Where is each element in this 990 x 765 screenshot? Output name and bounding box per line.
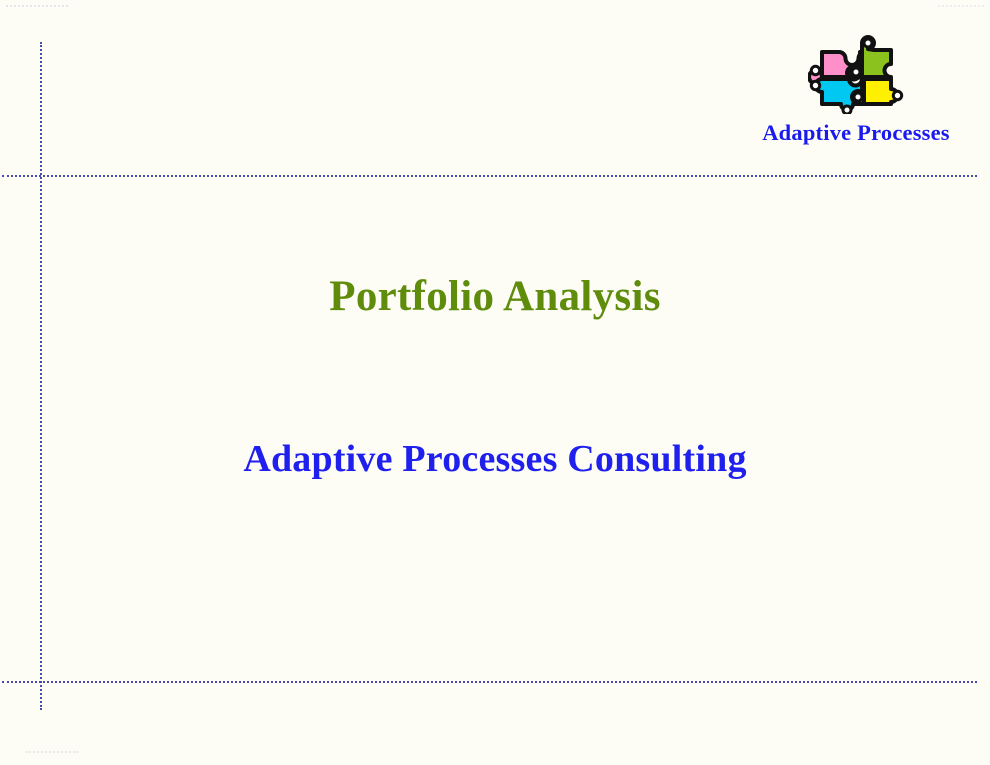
brand-logo: Adaptive Processes <box>736 32 976 146</box>
slide-canvas: Adaptive Processes Portfolio Analysis Ad… <box>0 0 990 765</box>
slide-title: Portfolio Analysis <box>0 272 990 321</box>
crop-mark-top-left <box>6 5 68 7</box>
guide-line-horizontal-bottom <box>2 681 977 683</box>
crop-mark-bottom-left <box>26 751 78 753</box>
slide-subtitle: Adaptive Processes Consulting <box>0 437 990 481</box>
guide-line-vertical-left <box>40 42 42 710</box>
jigsaw-puzzle-logo-icon <box>808 32 904 114</box>
crop-mark-top-right <box>938 5 984 7</box>
guide-line-horizontal-top <box>2 175 977 177</box>
brand-wordmark: Adaptive Processes <box>736 120 976 146</box>
